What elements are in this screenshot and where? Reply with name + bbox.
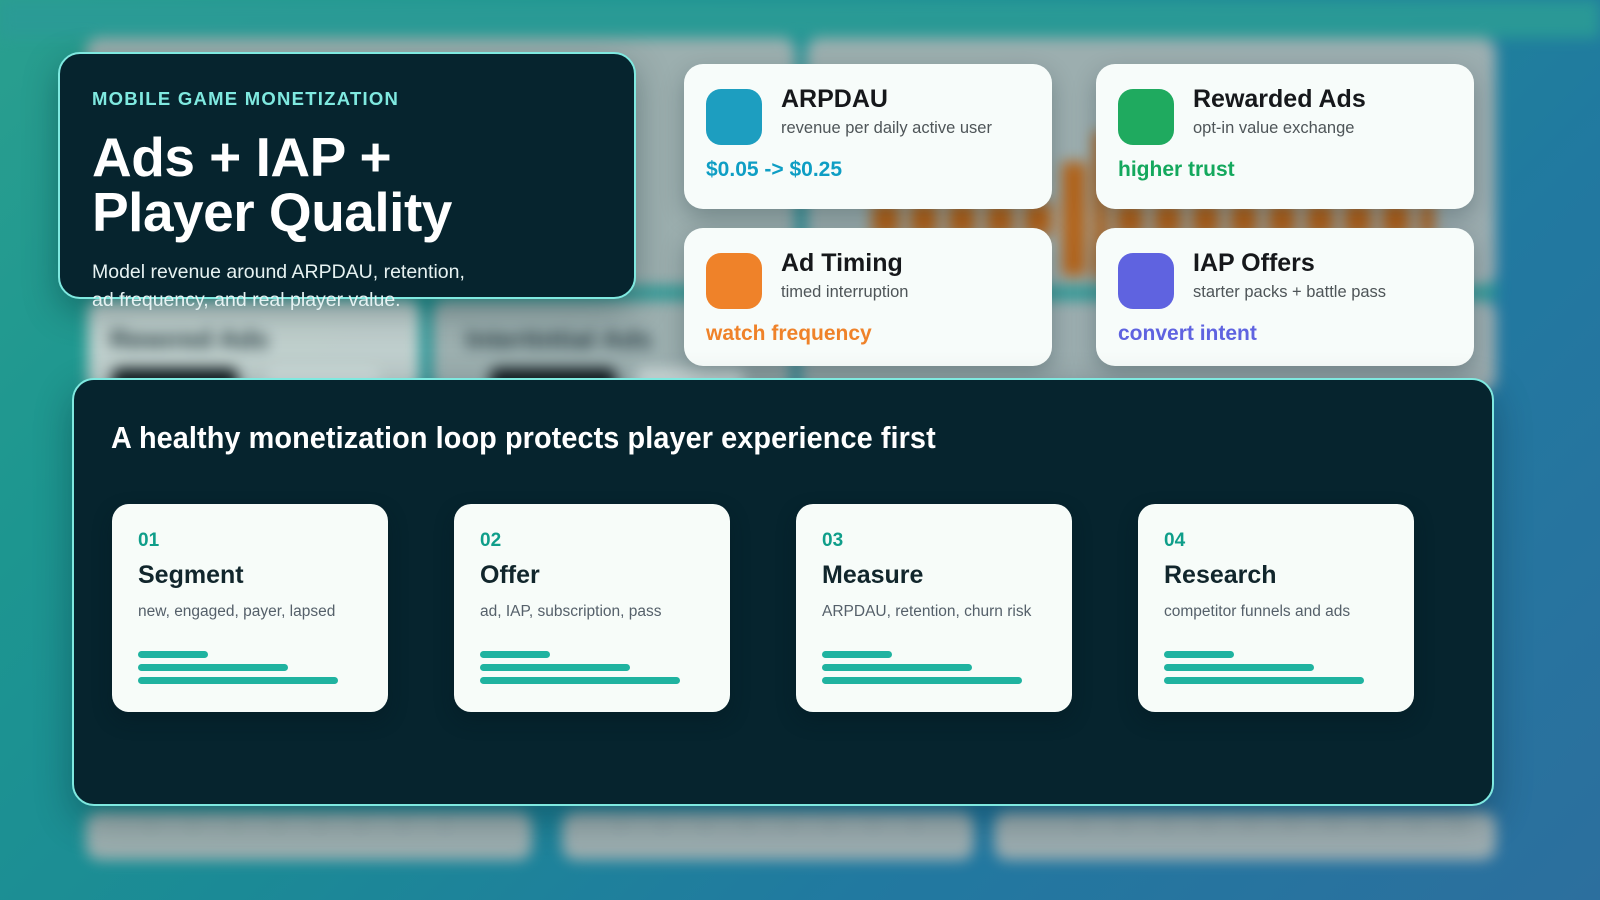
step-card-segment[interactable]: 01 Segment new, engaged, payer, lapsed: [112, 504, 388, 712]
step-title: Research: [1164, 561, 1390, 590]
bg-footer-panel-3: [994, 812, 1496, 860]
step-number: 02: [480, 530, 706, 552]
metric-value: watch frequency: [706, 322, 1028, 346]
metric-name: IAP Offers: [1193, 250, 1386, 276]
progress-bar: [480, 651, 550, 658]
step-progress-bars: [1164, 651, 1364, 690]
loop-steps: 01 Segment new, engaged, payer, lapsed 0…: [112, 504, 1414, 712]
teal-rounded-swatch-icon: [706, 89, 762, 145]
step-progress-bars: [822, 651, 1022, 690]
progress-bar: [138, 677, 338, 684]
hero-panel: MOBILE GAME MONETIZATION Ads + IAP + Pla…: [58, 52, 636, 299]
metric-card-iap-offers[interactable]: IAP Offers starter packs + battle pass c…: [1096, 228, 1474, 366]
step-description: new, engaged, payer, lapsed: [138, 601, 364, 622]
progress-bar: [822, 651, 892, 658]
progress-bar: [1164, 664, 1314, 671]
metric-value: $0.05 -> $0.25: [706, 158, 1028, 182]
bg-panel-title-1: Rewıred Ads: [110, 324, 269, 355]
step-progress-bars: [480, 651, 680, 690]
step-card-research[interactable]: 04 Research competitor funnels and ads: [1138, 504, 1414, 712]
bg-footer-panel-2: [562, 812, 974, 860]
step-card-offer[interactable]: 02 Offer ad, IAP, subscription, pass: [454, 504, 730, 712]
page-title: Ads + IAP + Player Quality: [92, 130, 598, 240]
progress-bar: [138, 651, 208, 658]
progress-bar: [480, 677, 680, 684]
metric-card-rewarded-ads[interactable]: Rewarded Ads opt-in value exchange highe…: [1096, 64, 1474, 209]
progress-bar: [822, 677, 1022, 684]
metric-name: Rewarded Ads: [1193, 86, 1366, 112]
monetization-loop-panel: A healthy monetization loop protects pla…: [72, 378, 1494, 806]
step-description: ARPDAU, retention, churn risk: [822, 601, 1048, 622]
progress-bar: [1164, 677, 1364, 684]
bg-panel-title-2: Interttıttial Ads: [466, 324, 652, 355]
metric-card-ad-timing[interactable]: Ad Timing timed interruption watch frequ…: [684, 228, 1052, 366]
hero-subtitle: Model revenue around ARPDAU, retention, …: [92, 259, 598, 314]
progress-bar: [822, 664, 972, 671]
orange-rounded-swatch-icon: [706, 253, 762, 309]
metric-name: ARPDAU: [781, 86, 992, 112]
metric-value: convert intent: [1118, 322, 1450, 346]
hero-title-line-2: Player Quality: [92, 185, 598, 240]
hero-subtitle-line-2: ad frequency, and real player value.: [92, 287, 598, 315]
progress-bar: [1164, 651, 1234, 658]
step-description: ad, IAP, subscription, pass: [480, 601, 706, 622]
metric-description: timed interruption: [781, 283, 908, 302]
loop-heading: A healthy monetization loop protects pla…: [111, 420, 1395, 456]
metric-description: opt-in value exchange: [1193, 119, 1366, 138]
step-title: Offer: [480, 561, 706, 590]
metric-description: starter packs + battle pass: [1193, 283, 1386, 302]
hero-eyebrow: MOBILE GAME MONETIZATION: [92, 88, 598, 110]
step-progress-bars: [138, 651, 338, 690]
step-number: 03: [822, 530, 1048, 552]
progress-bar: [138, 664, 288, 671]
step-card-measure[interactable]: 03 Measure ARPDAU, retention, churn risk: [796, 504, 1072, 712]
metric-value: higher trust: [1118, 158, 1450, 182]
indigo-rounded-swatch-icon: [1118, 253, 1174, 309]
bg-footer-panel-1: [86, 812, 532, 860]
hero-title-line-1: Ads + IAP +: [92, 130, 598, 185]
bg-band-top: [0, 0, 1600, 38]
step-title: Segment: [138, 561, 364, 590]
metric-description: revenue per daily active user: [781, 119, 992, 138]
step-description: competitor funnels and ads: [1164, 601, 1390, 622]
step-title: Measure: [822, 561, 1048, 590]
bg-chart-bar-tall: [1062, 162, 1086, 276]
step-number: 01: [138, 530, 364, 552]
green-rounded-swatch-icon: [1118, 89, 1174, 145]
metric-name: Ad Timing: [781, 250, 908, 276]
hero-subtitle-line-1: Model revenue around ARPDAU, retention,: [92, 259, 598, 287]
progress-bar: [480, 664, 630, 671]
metric-card-arpdau[interactable]: ARPDAU revenue per daily active user $0.…: [684, 64, 1052, 209]
step-number: 04: [1164, 530, 1390, 552]
